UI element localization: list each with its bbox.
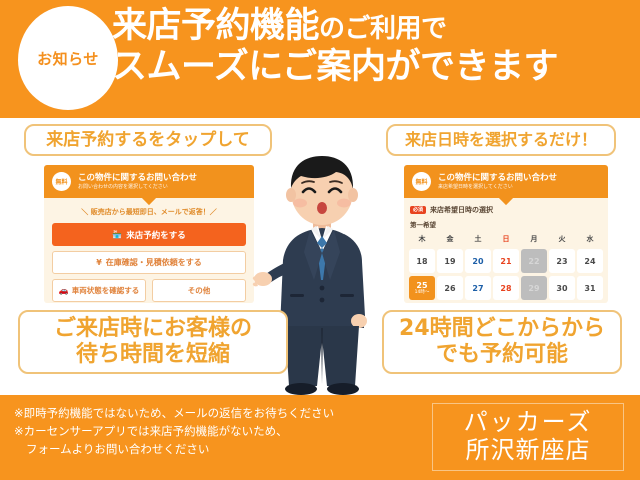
mock-right-header: 無料 この物件に関するお問い合わせ 来店希望日時を選択してください xyxy=(404,165,608,198)
callout-reduce-wait-time-text: ご来店時にお客様の 待ち時間を短縮 xyxy=(54,316,252,369)
free-badge-icon: 無料 xyxy=(52,172,71,191)
calendar-weekday-日: 日 xyxy=(493,232,519,246)
calendar-day-30[interactable]: 30 xyxy=(549,276,575,300)
required-field-label: 来店希望日時の選択 xyxy=(430,205,493,215)
callout-tap-reservation: 来店予約するをタップして xyxy=(24,124,272,156)
calendar: 木金土日月火水 18192021222324 2514時〜26272829303… xyxy=(409,232,603,300)
calendar-day-number: 18 xyxy=(416,257,427,266)
required-badge: 必須 xyxy=(410,206,426,214)
mock-left-subtitle: お問い合わせの内容を選択してください xyxy=(78,184,197,191)
callout-24h-booking: 24時間どこからから でも予約可能 xyxy=(382,310,622,374)
footer-note-3: フォームよりお問い合わせください xyxy=(14,441,414,459)
other-button[interactable]: その他 xyxy=(152,279,246,302)
speech-notch xyxy=(142,191,156,205)
shop-name-box: パッカーズ 所沢新座店 xyxy=(432,403,624,471)
required-field-line: 必須 来店希望日時の選択 xyxy=(410,205,608,215)
notice-badge-label: お知らせ xyxy=(37,48,99,69)
notice-badge: お知らせ xyxy=(18,6,118,110)
callout-select-datetime: 来店日時を選択するだけ！ xyxy=(386,124,616,156)
calendar-day-31[interactable]: 31 xyxy=(577,276,603,300)
calendar-day-time: 14時〜 xyxy=(415,291,430,296)
mock-right-title: この物件に関するお問い合わせ xyxy=(438,173,557,183)
footer-note-1: ※即時予約機能ではないため、メールの返信をお待ちください xyxy=(14,405,414,423)
mock-right-subtitle: 来店希望日時を選択してください xyxy=(438,184,557,191)
check-condition-button[interactable]: 🚗 車両状態を確認する xyxy=(52,279,146,302)
callout-24h-line1: 24時間どこからから xyxy=(399,316,605,342)
calendar-day-number: 24 xyxy=(584,257,595,266)
headline-keyword: 来店予約機能 xyxy=(112,6,319,46)
calendar-day-number: 25 xyxy=(416,281,427,290)
callout-24h-booking-text: 24時間どこからから でも予約可能 xyxy=(399,316,605,369)
calendar-weekday-金: 金 xyxy=(437,232,463,246)
mock-left-header-text: この物件に関するお問い合わせ お問い合わせの内容を選択してください xyxy=(78,173,197,191)
footer-note-2: ※カーセンサーアプリでは来店予約機能がないため、 xyxy=(14,423,414,441)
calendar-weekday-row: 木金土日月火水 xyxy=(409,232,603,246)
calendar-mockup: 無料 この物件に関するお問い合わせ 来店希望日時を選択してください 必須 来店希… xyxy=(404,165,608,303)
check-condition-label: 車両状態を確認する xyxy=(72,285,140,296)
callout-reduce-wait-time: ご来店時にお客様の 待ち時間を短縮 xyxy=(18,310,288,374)
mock-left-header: 無料 この物件に関するお問い合わせ お問い合わせの内容を選択してください xyxy=(44,165,254,198)
mock-left-note: ＼ 販売店から最短即日、メールで返答！／ xyxy=(44,207,254,217)
shop-name-line-2: 所沢新座店 xyxy=(466,437,591,465)
calendar-day-19[interactable]: 19 xyxy=(437,249,463,273)
calendar-day-number: 21 xyxy=(500,257,511,266)
callout-reduce-wait-line2: 待ち時間を短縮 xyxy=(54,342,252,368)
calendar-day-21[interactable]: 21 xyxy=(493,249,519,273)
calendar-day-18[interactable]: 18 xyxy=(409,249,435,273)
speech-notch xyxy=(499,191,513,205)
calendar-day-number: 23 xyxy=(556,257,567,266)
calendar-day-25[interactable]: 2514時〜 xyxy=(409,276,435,300)
header-band: お知らせ 来店予約機能のご利用で スムーズにご案内ができます xyxy=(0,0,640,118)
reserve-visit-button[interactable]: 🏪 来店予約をする xyxy=(52,223,246,246)
shop-name-line-1: パッカーズ xyxy=(464,409,593,437)
calendar-week-1: 18192021222324 xyxy=(409,246,603,273)
advertisement-banner: お知らせ 来店予約機能のご利用で スムーズにご案内ができます 来店予約するをタッ… xyxy=(0,0,640,480)
free-badge-label: 無料 xyxy=(415,177,427,186)
headline-tail: のご利用で xyxy=(319,14,447,44)
calendar-day-number: 22 xyxy=(528,257,539,266)
other-label: その他 xyxy=(188,285,211,296)
calendar-weekday-土: 土 xyxy=(465,232,491,246)
contact-form-mockup: 無料 この物件に関するお問い合わせ お問い合わせの内容を選択してください ＼ 販… xyxy=(44,165,254,303)
car-icon: 🚗 xyxy=(59,287,69,295)
secondary-button-row: 🚗 車両状態を確認する その他 xyxy=(52,279,246,302)
calendar-weekday-木: 木 xyxy=(409,232,435,246)
calendar-weekday-火: 火 xyxy=(549,232,575,246)
yen-icon: ¥ xyxy=(96,259,102,267)
callout-reduce-wait-line1: ご来店時にお客様の xyxy=(54,316,252,342)
calendar-day-number: 27 xyxy=(472,284,483,293)
calendar-day-number: 28 xyxy=(500,284,511,293)
headline-line-2: スムーズにご案内ができます xyxy=(112,49,636,86)
calendar-day-29: 29 xyxy=(521,276,547,300)
footer-band: ※即時予約機能ではないため、メールの返信をお待ちください ※カーセンサーアプリで… xyxy=(0,395,640,480)
callout-tap-reservation-label: 来店予約するをタップして xyxy=(46,130,250,150)
free-badge-label: 無料 xyxy=(55,177,67,186)
calendar-day-number: 30 xyxy=(556,284,567,293)
stock-quote-label: 在庫確認・見積依頼をする xyxy=(106,257,202,268)
body-panel: 来店予約するをタップして 来店日時を選択するだけ！ 無料 この物件に関するお問い… xyxy=(0,118,640,395)
calendar-day-26[interactable]: 26 xyxy=(437,276,463,300)
headline-line-1: 来店予約機能のご利用で xyxy=(112,8,636,45)
free-badge-icon: 無料 xyxy=(412,172,431,191)
calendar-day-number: 20 xyxy=(472,257,483,266)
calendar-day-number: 29 xyxy=(528,284,539,293)
calendar-day-number: 31 xyxy=(584,284,595,293)
callout-select-datetime-label: 来店日時を選択するだけ！ xyxy=(405,130,597,149)
preference-label: 第一希望 xyxy=(410,219,608,229)
calendar-day-24[interactable]: 24 xyxy=(577,249,603,273)
store-icon: 🏪 xyxy=(112,231,122,239)
calendar-day-number: 26 xyxy=(444,284,455,293)
footer-disclaimer: ※即時予約機能ではないため、メールの返信をお待ちください ※カーセンサーアプリで… xyxy=(14,405,414,458)
calendar-day-27[interactable]: 27 xyxy=(465,276,491,300)
calendar-week-2: 2514時〜262728293031 xyxy=(409,273,603,300)
stock-quote-button[interactable]: ¥ 在庫確認・見積依頼をする xyxy=(52,251,246,274)
callout-24h-line2: でも予約可能 xyxy=(399,342,605,368)
calendar-day-20[interactable]: 20 xyxy=(465,249,491,273)
calendar-day-28[interactable]: 28 xyxy=(493,276,519,300)
mock-right-header-text: この物件に関するお問い合わせ 来店希望日時を選択してください xyxy=(438,173,557,191)
calendar-day-number: 19 xyxy=(444,257,455,266)
calendar-day-23[interactable]: 23 xyxy=(549,249,575,273)
calendar-weekday-水: 水 xyxy=(577,232,603,246)
headline-group: 来店予約機能のご利用で スムーズにご案内ができます xyxy=(112,8,636,86)
calendar-day-22: 22 xyxy=(521,249,547,273)
mock-left-title: この物件に関するお問い合わせ xyxy=(78,173,197,183)
reserve-visit-label: 来店予約をする xyxy=(126,229,186,241)
calendar-weekday-月: 月 xyxy=(521,232,547,246)
